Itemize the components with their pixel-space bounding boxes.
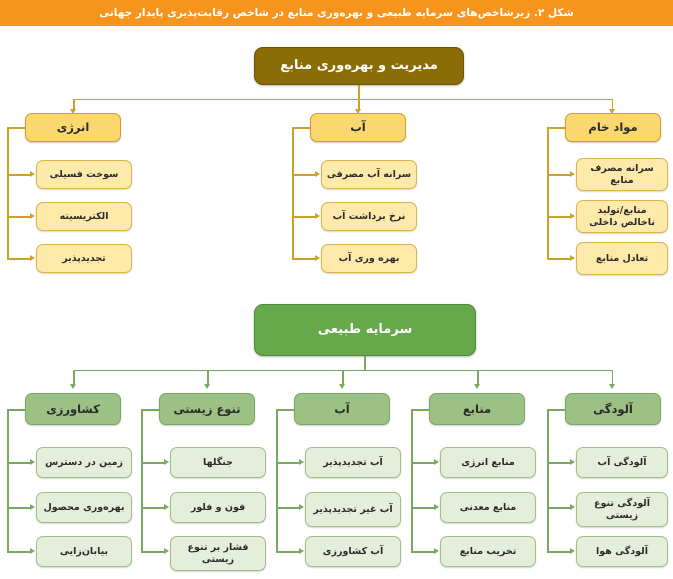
arrow-right-energy-2 xyxy=(30,213,35,219)
arrow-right-agriculture-3 xyxy=(30,548,35,554)
connector-branch-biodiversity-2 xyxy=(141,507,165,509)
leaf-node-water-top-2: نرخ برداشت آب xyxy=(321,202,417,231)
category-node-raw-materials: مواد خام xyxy=(565,113,661,142)
connector-spine-pollution xyxy=(547,409,565,411)
leaf-node-water-top-1: سرانه آب مصرفی xyxy=(321,160,417,189)
category-node-energy: انرژی xyxy=(25,113,121,142)
leaf-node-label: آب کشاورزی xyxy=(323,546,383,558)
leaf-node-label: منابع انرژی xyxy=(461,457,515,469)
connector-branch-biodiversity-3 xyxy=(141,551,165,553)
arrow-right-agriculture-1 xyxy=(30,459,35,465)
connector-branch-pollution-2 xyxy=(547,507,571,509)
connector-branch-resources-2 xyxy=(411,507,435,509)
leaf-node-pollution-3: آلودگی هوا xyxy=(576,536,668,567)
connector-root-stem-bottom xyxy=(364,356,366,370)
connector-branch-pollution-3 xyxy=(547,551,571,553)
connector-spine-biodiversity xyxy=(141,409,159,411)
leaf-node-energy-1: سوخت فسیلی xyxy=(36,160,132,189)
connector-branch-water-top-2 xyxy=(292,216,316,218)
arrow-right-agriculture-2 xyxy=(30,504,35,510)
leaf-node-label: سوخت فسیلی xyxy=(50,169,119,181)
leaf-node-pollution-1: آلودگی آب xyxy=(576,447,668,478)
connector-spine-energy-vertical xyxy=(7,127,9,259)
leaf-node-biodiversity-3: فشار بر تنوع زیستی xyxy=(170,536,266,571)
category-node-resources: منابع xyxy=(429,393,525,425)
leaf-node-biodiversity-1: جنگلها xyxy=(170,447,266,478)
connector-branch-raw-materials-2 xyxy=(547,216,571,218)
category-node-label: مواد خام xyxy=(588,120,637,134)
arrow-right-raw-materials-1 xyxy=(570,171,575,177)
leaf-node-label: سرانه آب مصرفی xyxy=(327,169,411,181)
arrow-right-water-top-1 xyxy=(315,171,320,177)
root-node-natural-capital: سرمایه طبیعی xyxy=(254,304,476,356)
leaf-node-agriculture-2: بهره‌وری محصول xyxy=(36,492,132,523)
connector-branch-water-bottom-3 xyxy=(276,551,300,553)
category-node-biodiversity: تنوع زیستی xyxy=(159,393,255,425)
connector-spine-water-top-vertical xyxy=(292,127,294,259)
connector-branch-water-bottom-2 xyxy=(276,507,300,509)
leaf-node-agriculture-3: بیابان‌زایی xyxy=(36,536,132,567)
arrow-right-pollution-3 xyxy=(570,548,575,554)
arrow-right-water-bottom-3 xyxy=(299,548,304,554)
leaf-node-label: بهره وری آب xyxy=(339,253,400,265)
arrow-right-resources-1 xyxy=(434,459,439,465)
leaf-node-raw-materials-3: تعادل منابع xyxy=(576,242,668,275)
category-node-label: تنوع زیستی xyxy=(173,402,240,416)
connector-branch-energy-2 xyxy=(7,216,31,218)
connector-spine-raw-materials xyxy=(547,127,565,129)
page-title: شکل ۲. زیرشاخص‌های سرمایه طبیعی و بهره‌و… xyxy=(99,7,574,19)
connector-spine-pollution-vertical xyxy=(547,409,549,552)
leaf-node-label: آب غیر تجدیدپذیر xyxy=(313,504,392,516)
connector-branch-water-top-1 xyxy=(292,174,316,176)
connector-branch-resources-1 xyxy=(411,462,435,464)
leaf-node-label: منابع/تولید ناخالص داخلی xyxy=(580,205,664,229)
leaf-node-raw-materials-2: منابع/تولید ناخالص داخلی xyxy=(576,200,668,233)
leaf-node-raw-materials-1: سرانه مصرف منابع xyxy=(576,158,668,191)
leaf-node-energy-3: تجدیدپذیر xyxy=(36,244,132,273)
arrow-right-biodiversity-2 xyxy=(164,504,169,510)
connector-branch-agriculture-3 xyxy=(7,551,31,553)
connector-branch-water-bottom-1 xyxy=(276,462,300,464)
connector-root-stem-top xyxy=(358,85,360,99)
arrow-right-water-bottom-2 xyxy=(299,504,304,510)
arrow-right-biodiversity-1 xyxy=(164,459,169,465)
leaf-node-water-bottom-1: آب تجدیدپذیر xyxy=(305,447,401,478)
connector-branch-energy-3 xyxy=(7,258,31,260)
connector-branch-raw-materials-3 xyxy=(547,258,571,260)
arrow-right-raw-materials-3 xyxy=(570,255,575,261)
connector-spine-water-bottom-vertical xyxy=(276,409,278,552)
leaf-node-water-bottom-3: آب کشاورزی xyxy=(305,536,401,567)
arrow-down-resources xyxy=(474,384,480,389)
leaf-node-energy-2: الکتریسیته xyxy=(36,202,132,231)
connector-branch-pollution-1 xyxy=(547,462,571,464)
arrow-right-energy-1 xyxy=(30,171,35,177)
connector-spine-resources xyxy=(411,409,429,411)
connector-spine-agriculture-vertical xyxy=(7,409,9,552)
category-node-label: کشاورزی xyxy=(46,402,100,416)
leaf-node-label: آب تجدیدپذیر xyxy=(323,457,383,469)
figure-title-banner: شکل ۲. زیرشاخص‌های سرمایه طبیعی و بهره‌و… xyxy=(0,0,673,26)
arrow-right-water-top-2 xyxy=(315,213,320,219)
arrow-right-pollution-2 xyxy=(570,504,575,510)
connector-spine-water-top xyxy=(292,127,310,129)
category-node-label: آب xyxy=(334,402,350,416)
leaf-node-label: نرخ برداشت آب xyxy=(333,211,406,223)
leaf-node-label: فون و فلور xyxy=(191,502,245,514)
category-node-label: منابع xyxy=(463,402,491,416)
connector-spine-agriculture xyxy=(7,409,25,411)
connector-branch-energy-1 xyxy=(7,174,31,176)
connector-branch-agriculture-1 xyxy=(7,462,31,464)
connector-branch-agriculture-2 xyxy=(7,507,31,509)
leaf-node-label: آلودگی آب xyxy=(598,457,647,469)
connector-spine-raw-materials-vertical xyxy=(547,127,549,259)
arrow-down-biodiversity xyxy=(204,384,210,389)
connector-horizontal-bus-top xyxy=(73,99,613,101)
leaf-node-label: آلودگی هوا xyxy=(596,546,648,558)
leaf-node-pollution-2: آلودگی تنوع زیستی xyxy=(576,492,668,527)
leaf-node-label: الکتریسیته xyxy=(60,211,109,223)
leaf-node-agriculture-1: زمین در دسترس xyxy=(36,447,132,478)
leaf-node-resources-3: تخریب منابع xyxy=(440,536,536,567)
leaf-node-label: زمین در دسترس xyxy=(45,457,123,469)
arrow-right-biodiversity-3 xyxy=(164,548,169,554)
connector-branch-water-top-3 xyxy=(292,258,316,260)
leaf-node-label: فشار بر تنوع زیستی xyxy=(174,542,262,566)
arrow-right-resources-2 xyxy=(434,504,439,510)
category-node-label: آلودگی xyxy=(593,402,633,416)
arrow-right-pollution-1 xyxy=(570,459,575,465)
arrow-right-raw-materials-2 xyxy=(570,213,575,219)
connector-spine-resources-vertical xyxy=(411,409,413,552)
category-node-agriculture: کشاورزی xyxy=(25,393,121,425)
leaf-node-label: آلودگی تنوع زیستی xyxy=(580,498,664,522)
connector-branch-raw-materials-1 xyxy=(547,174,571,176)
category-node-water-top: آب xyxy=(310,113,406,142)
leaf-node-label: سرانه مصرف منابع xyxy=(580,163,664,187)
connector-spine-energy xyxy=(7,127,25,129)
leaf-node-label: تخریب منابع xyxy=(460,546,517,558)
leaf-node-water-top-3: بهره وری آب xyxy=(321,244,417,273)
connector-spine-water-bottom xyxy=(276,409,294,411)
category-node-label: آب xyxy=(350,120,366,134)
arrow-right-resources-3 xyxy=(434,548,439,554)
leaf-node-label: منابع معدنی xyxy=(460,502,517,514)
arrow-right-water-bottom-1 xyxy=(299,459,304,465)
leaf-node-water-bottom-2: آب غیر تجدیدپذیر xyxy=(305,492,401,527)
category-node-water-bottom: آب xyxy=(294,393,390,425)
arrow-right-energy-3 xyxy=(30,255,35,261)
connector-branch-biodiversity-1 xyxy=(141,462,165,464)
leaf-node-resources-1: منابع انرژی xyxy=(440,447,536,478)
leaf-node-label: تجدیدپذیر xyxy=(62,253,106,265)
root-node-label: سرمایه طبیعی xyxy=(318,322,412,338)
leaf-node-biodiversity-2: فون و فلور xyxy=(170,492,266,523)
leaf-node-label: جنگلها xyxy=(203,457,233,469)
root-node-resource-management: مدیریت و بهره‌وری منابع xyxy=(254,47,464,85)
leaf-node-label: تعادل منابع xyxy=(596,253,648,265)
category-node-label: انرژی xyxy=(57,120,90,134)
arrow-right-water-top-3 xyxy=(315,255,320,261)
connector-branch-resources-3 xyxy=(411,551,435,553)
root-node-label: مدیریت و بهره‌وری منابع xyxy=(280,58,438,74)
leaf-node-label: بهره‌وری محصول xyxy=(43,502,124,514)
arrow-down-pollution xyxy=(609,384,615,389)
category-node-pollution: آلودگی xyxy=(565,393,661,425)
arrow-down-agriculture xyxy=(70,384,76,389)
leaf-node-label: بیابان‌زایی xyxy=(60,546,108,558)
leaf-node-resources-2: منابع معدنی xyxy=(440,492,536,523)
arrow-down-water-bottom xyxy=(339,384,345,389)
connector-spine-biodiversity-vertical xyxy=(141,409,143,552)
